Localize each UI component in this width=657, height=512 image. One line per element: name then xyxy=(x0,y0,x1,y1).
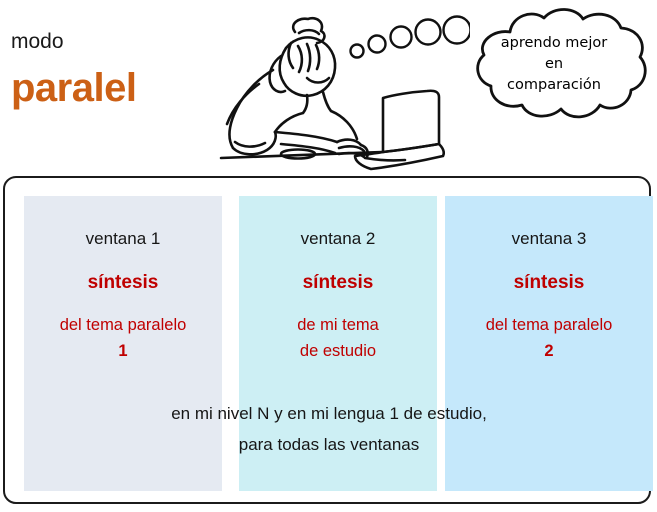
window-3-title: ventana 3 xyxy=(445,230,653,247)
window-1-title: ventana 1 xyxy=(24,230,222,247)
window-2-detail: de mi tema de estudio xyxy=(239,312,437,364)
window-2-heading: síntesis xyxy=(239,273,437,292)
window-1-detail-number: 1 xyxy=(24,338,222,364)
thought-line-2: en xyxy=(474,54,634,75)
thought-cloud-text: aprendo mejor en comparación xyxy=(474,33,634,96)
windows-panel: ventana 1 síntesis del tema paralelo 1 v… xyxy=(3,176,651,504)
header: modo paralel xyxy=(0,0,657,176)
window-1-detail: del tema paralelo 1 xyxy=(24,312,222,364)
window-3-detail-line-1: del tema paralelo xyxy=(445,312,653,338)
window-2-detail-line-1: de mi tema xyxy=(239,312,437,338)
window-3-detail-number: 2 xyxy=(445,338,653,364)
window-2-detail-line-2: de estudio xyxy=(239,338,437,364)
title-paralel: paralel xyxy=(11,68,136,108)
caption-line-1: en mi nivel N y en mi lengua 1 de estudi… xyxy=(5,398,653,429)
title-modo: modo xyxy=(11,31,64,52)
window-2-title: ventana 2 xyxy=(239,230,437,247)
window-3-heading: síntesis xyxy=(445,273,653,292)
panel-caption: en mi nivel N y en mi lengua 1 de estudi… xyxy=(5,398,653,460)
thought-line-3: comparación xyxy=(474,75,634,96)
window-1-heading: síntesis xyxy=(24,273,222,292)
caption-line-2: para todas las ventanas xyxy=(5,429,653,460)
window-3-detail: del tema paralelo 2 xyxy=(445,312,653,364)
window-1-detail-line-1: del tema paralelo xyxy=(24,312,222,338)
thought-line-1: aprendo mejor xyxy=(474,33,634,54)
